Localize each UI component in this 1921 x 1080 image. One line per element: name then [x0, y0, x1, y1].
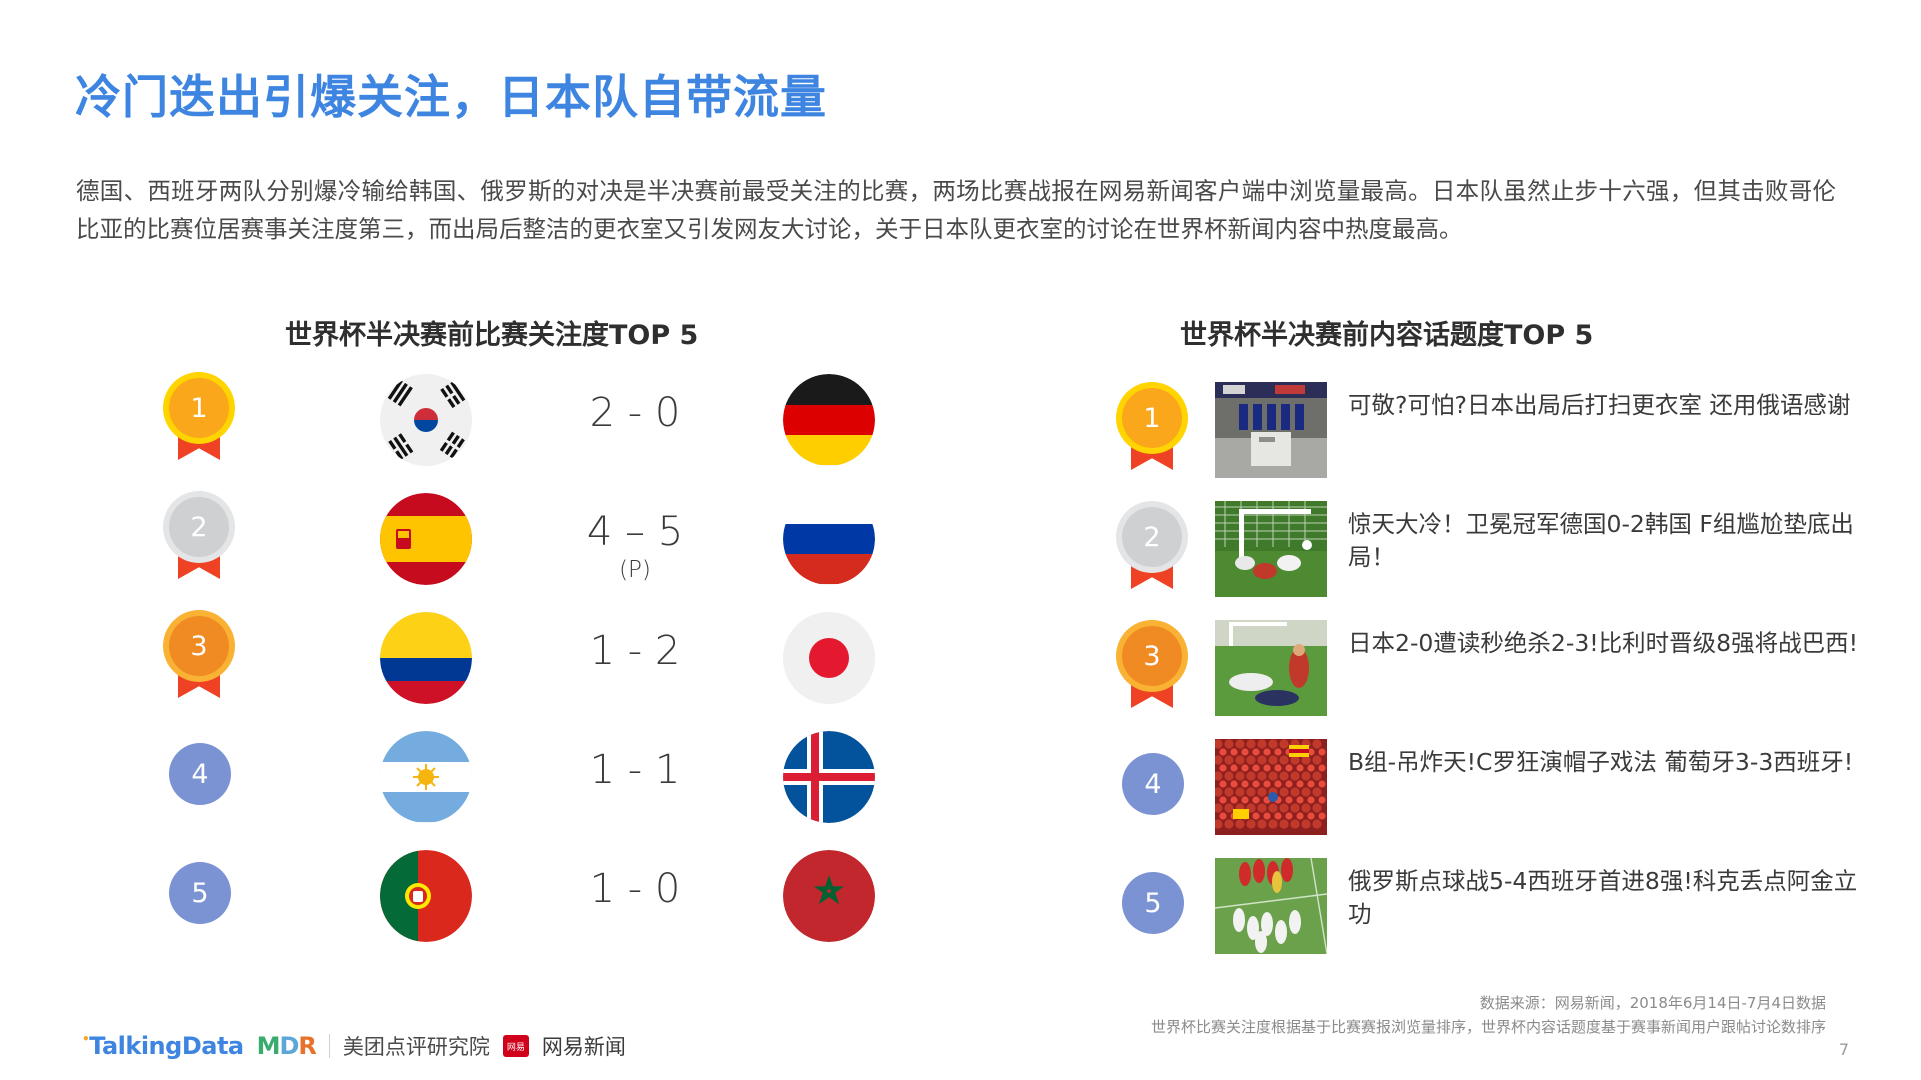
page-number: 7: [1839, 1040, 1849, 1059]
flag-jp-icon: [783, 612, 875, 704]
rank-circle: 4: [1122, 753, 1184, 815]
news-row[interactable]: 5 俄罗斯点球战5-4西班牙首进8强!科克丢点阿金立功: [1090, 858, 1890, 977]
footer-logos: •TalkingData MDR 美团点评研究院 网易 网易新闻: [82, 1031, 626, 1061]
match-row: 3 1 - 2: [130, 610, 1030, 729]
news-thumbnail: [1215, 739, 1327, 835]
intro-paragraph: 德国、西班牙两队分别爆冷输给韩国、俄罗斯的对决是半决赛前最受关注的比赛，两场比赛…: [76, 172, 1836, 248]
logo-divider: [329, 1034, 330, 1058]
netease-badge-icon: 网易: [503, 1035, 529, 1057]
news-headline[interactable]: 惊天大冷！卫冕冠军德国0-2韩国 F组尴尬垫底出局！: [1348, 508, 1868, 574]
news-rank-3: 3: [1118, 626, 1186, 712]
meituan-research-logo: 美团点评研究院: [343, 1031, 490, 1061]
medal-icon: 1: [165, 378, 233, 464]
right-section-title: 世界杯半决赛前内容话题度TOP 5: [1180, 313, 1593, 352]
medal-disc: 1: [1122, 388, 1182, 448]
news-rank-1: 1: [1118, 388, 1186, 474]
flag-co-icon: [380, 612, 472, 704]
match-row: 5 1 - 0: [130, 848, 1030, 967]
flag-kr-icon: [380, 374, 472, 466]
medal-icon: 2: [165, 497, 233, 583]
news-row[interactable]: 3 日本2-0遭读秒绝杀2-3!比利时晋级8强将战巴西!: [1090, 620, 1890, 739]
news-headline[interactable]: B组-吊炸天!C罗狂演帽子戏法 葡萄牙3-3西班牙!: [1348, 746, 1868, 779]
match-row: 2 4 – 5(P): [130, 491, 1030, 610]
flag-de-icon: [783, 374, 875, 466]
news-thumbnail: [1215, 501, 1327, 597]
flag-ru-icon: [783, 493, 875, 585]
left-section-title: 世界杯半决赛前比赛关注度TOP 5: [285, 313, 698, 352]
data-source-note: 数据来源：网易新闻，2018年6月14日-7月4日数据 世界杯比赛关注度根据基于…: [626, 991, 1826, 1039]
flag-is-icon: [783, 731, 875, 823]
news-rank-5: 5: [1118, 864, 1186, 950]
news-row[interactable]: 4 B组-吊炸天!C罗狂演帽子戏法 葡萄牙3-3西班牙!: [1090, 739, 1890, 858]
medal-icon: 2: [1118, 507, 1186, 593]
match-rank-3: 3: [165, 616, 233, 702]
match-score: 1 - 2: [520, 628, 750, 674]
rank-circle: 5: [1122, 872, 1184, 934]
match-score: 2 - 0: [520, 390, 750, 436]
rank-circle: 5: [169, 862, 231, 924]
match-score: 1 - 0: [520, 866, 750, 912]
penalty-note: (P): [520, 557, 750, 583]
match-score: 4 – 5(P): [520, 509, 750, 583]
slide: 冷门迭出引爆关注，日本队自带流量 德国、西班牙两队分别爆冷输给韩国、俄罗斯的对决…: [0, 0, 1921, 1080]
medal-icon: 3: [1118, 626, 1186, 712]
page-title: 冷门迭出引爆关注，日本队自带流量: [75, 61, 827, 127]
talkingdata-logo: •TalkingData: [82, 1032, 244, 1060]
medal-disc: 2: [169, 497, 229, 557]
medal-disc: 2: [1122, 507, 1182, 567]
netease-news-logo: 网易新闻: [542, 1031, 626, 1061]
news-headline[interactable]: 可敬?可怕?日本出局后打扫更衣室 还用俄语感谢: [1348, 389, 1868, 422]
news-ranking-list: 1 可敬?可怕?日本出局后打扫更衣室 还用俄语感谢 2 惊天大冷！卫冕冠军德国0…: [1090, 382, 1890, 977]
source-line-2: 世界杯比赛关注度根据基于比赛赛报浏览量排序，世界杯内容话题度基于赛事新闻用户跟帖…: [626, 1015, 1826, 1039]
match-row: 4 1 - 1: [130, 729, 1030, 848]
flag-ar-icon: [380, 731, 472, 823]
mdr-logo: MDR: [257, 1032, 316, 1060]
news-rank-4: 4: [1118, 745, 1186, 831]
flag-pt-icon: [380, 850, 472, 942]
match-rank-5: 5: [165, 854, 233, 940]
news-thumbnail: [1215, 620, 1327, 716]
match-rank-1: 1: [165, 378, 233, 464]
news-thumbnail: [1215, 858, 1327, 954]
match-score: 1 - 1: [520, 747, 750, 793]
flag-ma-icon: [783, 850, 875, 942]
match-ranking-list: 1 2 - 0 2 4 – 5(P): [130, 372, 1030, 967]
match-rank-4: 4: [165, 735, 233, 821]
rank-circle: 4: [169, 743, 231, 805]
medal-icon: 1: [1118, 388, 1186, 474]
medal-disc: 3: [169, 616, 229, 676]
source-line-1: 数据来源：网易新闻，2018年6月14日-7月4日数据: [626, 991, 1826, 1015]
match-rank-2: 2: [165, 497, 233, 583]
match-row: 1 2 - 0: [130, 372, 1030, 491]
news-row[interactable]: 1 可敬?可怕?日本出局后打扫更衣室 还用俄语感谢: [1090, 382, 1890, 501]
medal-icon: 3: [165, 616, 233, 702]
flag-es-icon: [380, 493, 472, 585]
medal-disc: 3: [1122, 626, 1182, 686]
medal-disc: 1: [169, 378, 229, 438]
news-headline[interactable]: 日本2-0遭读秒绝杀2-3!比利时晋级8强将战巴西!: [1348, 627, 1868, 660]
news-headline[interactable]: 俄罗斯点球战5-4西班牙首进8强!科克丢点阿金立功: [1348, 865, 1868, 931]
news-rank-2: 2: [1118, 507, 1186, 593]
news-row[interactable]: 2 惊天大冷！卫冕冠军德国0-2韩国 F组尴尬垫底出局！: [1090, 501, 1890, 620]
news-thumbnail: [1215, 382, 1327, 478]
